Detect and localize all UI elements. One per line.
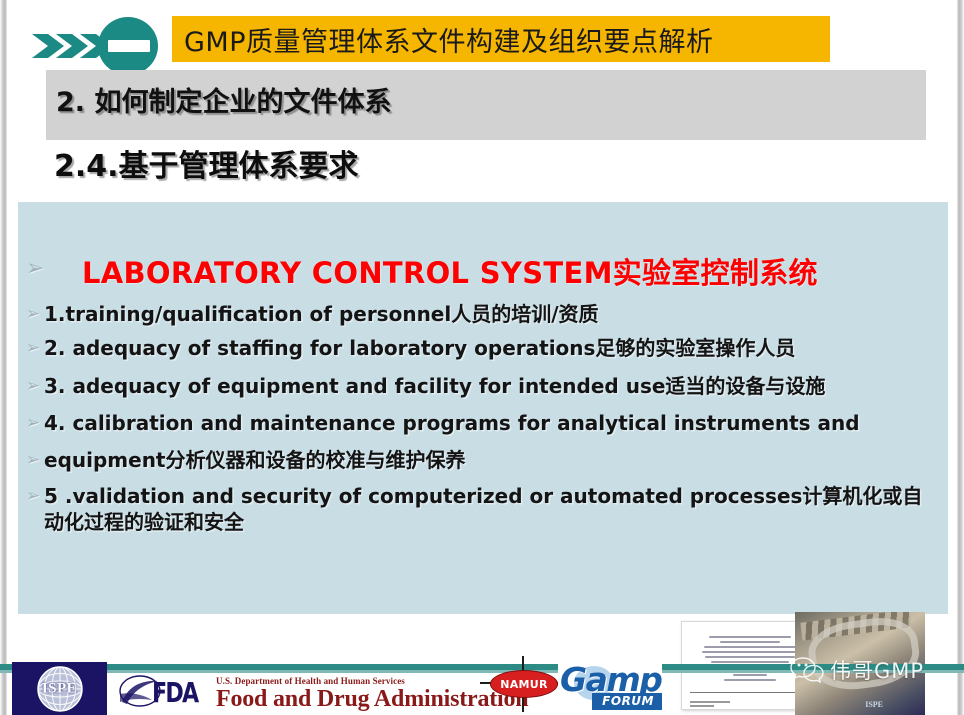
photo-thumbnail-tag: ISPE [865,700,883,709]
bullet-arrow-icon: ➢ [26,250,48,280]
gamp-logo: Gamp FORUM [558,660,662,710]
bullet-arrow-icon: ➢ [26,336,44,357]
namur-logo-text: NAMUR [500,678,548,691]
bullet-arrow-icon: ➢ [26,302,44,323]
hhs-department-line: U.S. Department of Health and Human Serv… [216,676,405,686]
ispe-logo: ISPE [12,662,107,715]
list-item-label: 2. adequacy of staffing for laboratory o… [44,336,926,362]
list-item-label: 1.training/qualification of personnel人员的… [44,302,926,328]
bullet-arrow-icon: ➢ [26,374,44,395]
list-item-label: 3. adequacy of equipment and facility fo… [44,374,926,400]
gamp-forum-text: FORUM [592,693,662,710]
slide-canvas: GMP质量管理体系文件构建及组织要点解析 2. 如何制定企业的文件体系 2.4.… [0,0,964,715]
bullet-arrow-icon: ➢ [26,411,44,432]
header-decoration [18,16,178,76]
fda-full-name: Food and Drug Administration [216,686,528,713]
bullet-arrow-icon: ➢ [26,448,44,469]
ispe-logo-text: ISPE [35,680,85,697]
list-item: ➢ 4. calibration and maintenance program… [22,411,932,437]
fda-logo-mark: FDA [152,676,197,709]
list-item: ➢ 2. adequacy of staffing for laboratory… [22,336,932,362]
content-headline-row: ➢ LABORATORY CONTROL SYSTEM实验室控制系统 [22,250,922,292]
slide-title-band: GMP质量管理体系文件构建及组织要点解析 [172,16,830,62]
list-item: ➢ equipment分析仪器和设备的校准与维护保养 [22,448,932,474]
chevron-circle-icon [18,16,178,76]
list-item: ➢ 5 .validation and security of computer… [22,484,942,535]
slide-left-border [0,0,7,715]
slide-right-border [957,0,964,715]
list-item-label: 5 .validation and security of computeriz… [44,484,936,535]
list-item-label: 4. calibration and maintenance programs … [44,411,926,437]
list-item-label: equipment分析仪器和设备的校准与维护保养 [44,448,926,474]
bullet-arrow-icon: ➢ [26,484,44,505]
content-headline: LABORATORY CONTROL SYSTEM实验室控制系统 [48,250,916,292]
namur-logo: NAMUR [490,670,558,698]
subsection-heading: 2.4.基于管理体系要求 [54,141,359,185]
list-item: ➢ 3. adequacy of equipment and facility … [22,374,932,400]
page-title: GMP质量管理体系文件构建及组织要点解析 [184,20,714,59]
list-item: ➢ 1.training/qualification of personnel人… [22,302,932,328]
section-heading: 2. 如何制定企业的文件体系 [56,80,391,119]
